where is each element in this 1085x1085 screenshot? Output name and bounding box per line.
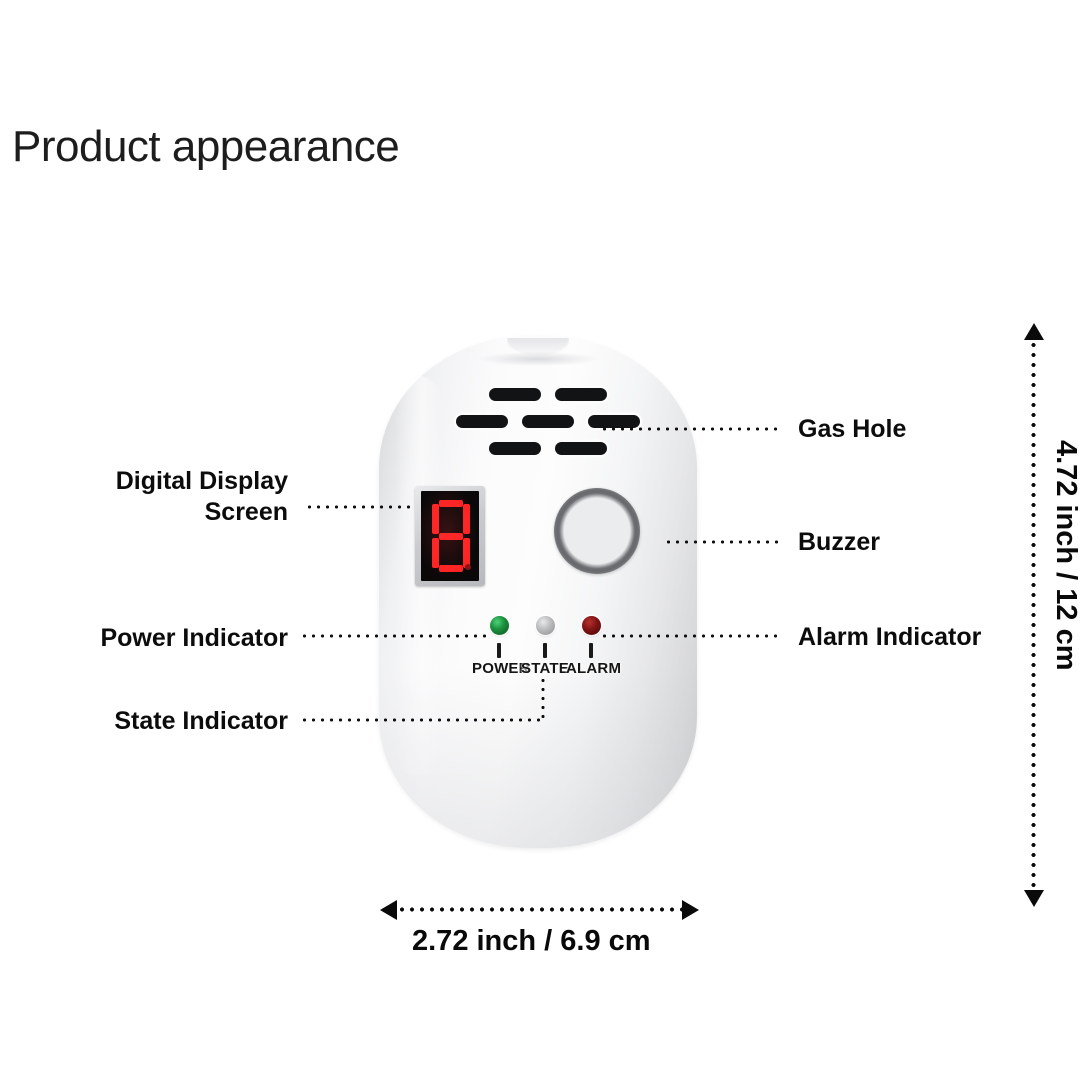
segment-a: [439, 500, 463, 507]
display-screen-surface: [421, 491, 479, 581]
top-notch-shadow: [478, 352, 598, 366]
gas-hole-vents: [451, 388, 631, 460]
leader-line-gas-hole: [600, 427, 782, 431]
vent-slot: [489, 442, 541, 455]
callout-gas-hole: Gas Hole: [798, 414, 906, 445]
width-dimension-arrow-left: [380, 900, 397, 920]
state-led-tick: [543, 643, 547, 658]
segment-g: [439, 533, 463, 540]
leader-line-alarm-indicator: [600, 634, 782, 638]
leader-line-state-indicator-horizontal: [300, 718, 544, 722]
width-dimension-line: [397, 907, 682, 912]
buzzer-ring: [554, 488, 640, 574]
segment-f: [432, 504, 439, 534]
height-dimension-arrow-top: [1024, 323, 1044, 340]
height-dimension-line: [1031, 340, 1036, 890]
vent-slot: [522, 415, 574, 428]
leader-line-state-indicator-vertical: [541, 676, 545, 720]
vent-slot: [555, 388, 607, 401]
power-led-tick: [497, 643, 501, 658]
leader-line-buzzer: [664, 540, 782, 544]
callout-alarm-indicator: Alarm Indicator: [798, 622, 981, 653]
leader-line-digital-display: [305, 505, 415, 509]
segment-d: [439, 565, 463, 572]
seven-segment-digit: [432, 500, 470, 572]
segment-decimal-point: [465, 564, 471, 570]
segment-e: [432, 538, 439, 568]
state-led-caption: STATE: [521, 660, 569, 677]
body-bottom-shading: [379, 668, 697, 848]
digital-display-screen: [415, 486, 485, 586]
segment-b: [463, 504, 470, 534]
vent-slot: [456, 415, 508, 428]
callout-power-indicator: Power Indicator: [44, 623, 288, 654]
page-title: Product appearance: [12, 122, 399, 172]
vent-slot: [555, 442, 607, 455]
alarm-led-tick: [589, 643, 593, 658]
width-dimension-label: 2.72 inch / 6.9 cm: [412, 925, 651, 958]
product-appearance-diagram: Product appearance: [0, 0, 1085, 1085]
callout-digital-display-screen: Digital Display Screen: [60, 466, 288, 527]
alarm-led-caption: ALARM: [566, 660, 621, 677]
height-dimension-label: 4.72 inch / 12 cm: [1049, 440, 1082, 671]
gas-detector-device: POWER STATE ALARM: [379, 336, 697, 848]
width-dimension-arrow-right: [682, 900, 699, 920]
vent-slot: [489, 388, 541, 401]
leader-line-power-indicator: [300, 634, 492, 638]
callout-buzzer: Buzzer: [798, 527, 880, 558]
state-led: [536, 616, 555, 635]
alarm-led: [582, 616, 601, 635]
height-dimension-arrow-bottom: [1024, 890, 1044, 907]
callout-state-indicator: State Indicator: [44, 706, 288, 737]
power-led: [490, 616, 509, 635]
